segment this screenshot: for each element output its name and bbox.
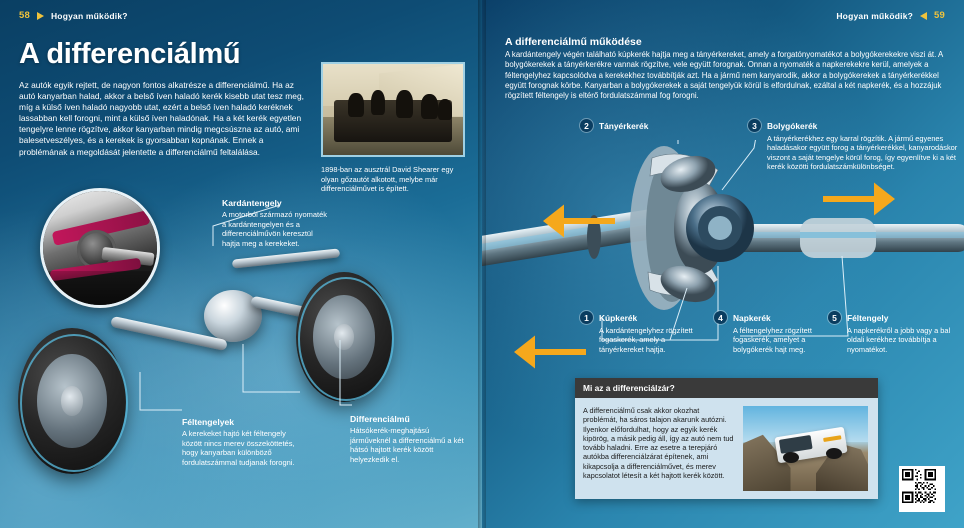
callout-title: Féltengely bbox=[847, 313, 888, 323]
page-number-right: 59 bbox=[934, 10, 945, 21]
section-title: A differenciálmű működése bbox=[505, 36, 642, 48]
callout-bolygokerek: 3 Bolygókerék A tányérkerékhez egy karra… bbox=[748, 119, 958, 172]
callout-body: Hátsókerék-meghajtású járműveknél a diff… bbox=[350, 426, 468, 464]
offroad-vehicle-photo bbox=[743, 406, 868, 491]
left-page: 58 Hogyan működik? A differenciálmű Az a… bbox=[0, 0, 482, 528]
qr-code-icon[interactable] bbox=[899, 466, 945, 512]
callout-body: A motorból származó nyomaték a kardánten… bbox=[222, 210, 330, 248]
running-head-label-left: Hogyan működik? bbox=[51, 11, 128, 21]
page-number-left: 58 bbox=[19, 10, 30, 21]
running-head-right: Hogyan működik? 59 bbox=[836, 10, 945, 21]
callout-tanyerkerek: 2 Tányérkerék bbox=[580, 119, 730, 132]
intro-paragraph: Az autók egyik rejtett, de nagyon fontos… bbox=[19, 80, 304, 158]
callout-title: Féltengelyek bbox=[182, 417, 304, 427]
running-head-left: 58 Hogyan működik? bbox=[19, 10, 128, 21]
callout-number-badge: 4 bbox=[714, 311, 727, 324]
rear-wheel-left bbox=[18, 328, 126, 474]
callout-body: A kerekeket hajtó két féltengely között … bbox=[182, 429, 304, 467]
running-head-label-right: Hogyan működik? bbox=[836, 11, 913, 21]
page-title: A differenciálmű bbox=[19, 38, 240, 71]
callout-title: Tányérkerék bbox=[599, 121, 648, 131]
info-box-body: A differenciálmű csak akkor okozhat prob… bbox=[583, 406, 735, 491]
info-box-differential-lock: Mi az a differenciálzár? A differenciálm… bbox=[575, 378, 878, 499]
section-body: A kardántengely végén található kúpkerék… bbox=[505, 50, 955, 101]
callout-body: A tányérkerékhez egy karral rögzítik. A … bbox=[767, 134, 958, 172]
triangle-left-icon bbox=[920, 12, 927, 20]
triangle-right-icon bbox=[37, 12, 44, 20]
callout-number-badge: 5 bbox=[828, 311, 841, 324]
callout-napkerek: 4 Napkerék A féltengelyhez rögzített fog… bbox=[714, 311, 826, 354]
callout-body: A kardántengelyhez rögzített fogaskerék,… bbox=[599, 326, 706, 354]
rear-wheel-right bbox=[296, 272, 392, 402]
rear-axle-illustration bbox=[0, 250, 482, 528]
info-box-header: Mi az a differenciálzár? bbox=[575, 378, 878, 398]
callout-feltengely: 5 Féltengely A napkerékről a jobb vagy a… bbox=[828, 311, 954, 354]
callout-differencialmu: Differenciálmű Hátsókerék-meghajtású jár… bbox=[350, 414, 468, 464]
archive-photo-scene bbox=[323, 64, 463, 155]
callout-kardantengely: Kardántengely A motorból származó nyomat… bbox=[222, 198, 330, 248]
drive-shaft bbox=[232, 248, 340, 268]
callout-number-badge: 3 bbox=[748, 119, 761, 132]
callout-kupkerek: 1 Kúpkerék A kardántengelyhez rögzített … bbox=[580, 311, 706, 354]
archive-photo bbox=[321, 62, 465, 157]
callout-body: A napkerékről a jobb vagy a bal oldali k… bbox=[847, 326, 954, 354]
callout-title: Kúpkerék bbox=[599, 313, 637, 323]
callout-title: Differenciálmű bbox=[350, 414, 468, 424]
callout-title: Napkerék bbox=[733, 313, 771, 323]
callout-number-badge: 1 bbox=[580, 311, 593, 324]
magazine-spread: 58 Hogyan működik? A differenciálmű Az a… bbox=[0, 0, 964, 528]
callout-body: A féltengelyhez rögzített fogaskerék, am… bbox=[733, 326, 826, 354]
callout-title: Bolygókerék bbox=[767, 121, 817, 131]
callout-title: Kardántengely bbox=[222, 198, 330, 208]
callout-feltengelyek: Féltengelyek A kerekeket hajtó két félte… bbox=[182, 417, 304, 467]
archive-photo-caption: 1898-ban az ausztrál David Shearer egy o… bbox=[321, 165, 467, 194]
callout-number-badge: 2 bbox=[580, 119, 593, 132]
